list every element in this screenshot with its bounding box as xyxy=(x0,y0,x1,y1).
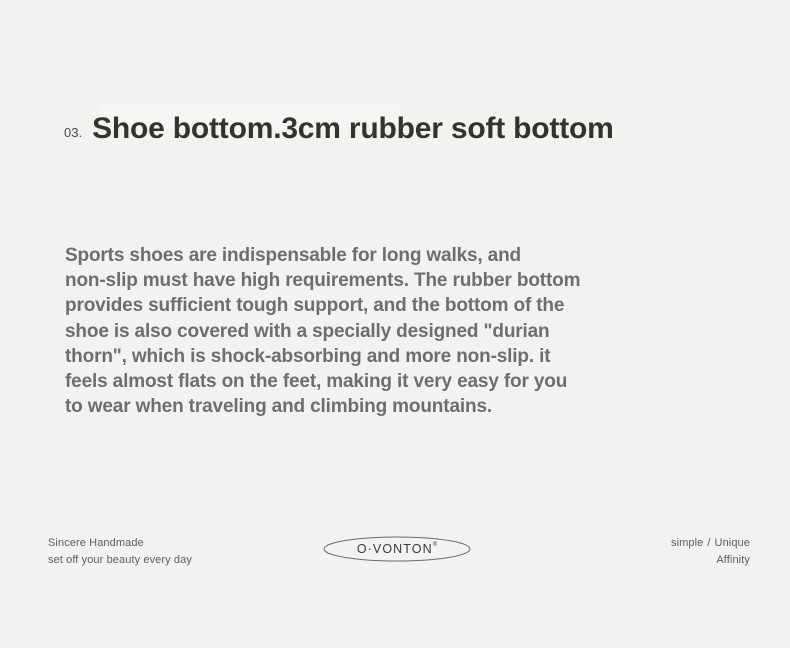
heading-section-number: 03. xyxy=(64,126,82,139)
body-line: to wear when traveling and climbing moun… xyxy=(65,394,725,419)
footer-keyword-separator: / xyxy=(703,537,714,549)
body-line: Sports shoes are indispensable for long … xyxy=(65,243,725,268)
footer-tagline-line-1: Sincere Handmade xyxy=(48,535,192,552)
footer-keyword-unique: Unique xyxy=(715,537,750,549)
body-line: non-slip must have high requirements. Th… xyxy=(65,268,725,293)
footer-keywords-line-1: simple/Unique xyxy=(671,535,750,552)
body-line: thorn", which is shock-absorbing and mor… xyxy=(65,344,725,369)
page-root: 03. Shoe bottom.3cm rubber soft bottom S… xyxy=(0,0,790,648)
footer-keyword-simple: simple xyxy=(671,537,703,549)
registered-trademark-icon: ® xyxy=(433,542,437,548)
footer-tagline-line-2: set off your beauty every day xyxy=(48,552,192,569)
body-line: provides sufficient tough support, and t… xyxy=(65,293,725,318)
logo-name: O·VONTON xyxy=(357,542,433,556)
page-title: Shoe bottom.3cm rubber soft bottom xyxy=(92,112,614,146)
footer-tagline-left: Sincere Handmade set off your beauty eve… xyxy=(48,535,192,569)
footer-tagline-right: simple/Unique Affinity xyxy=(671,535,750,569)
body-line: feels almost flats on the feet, making i… xyxy=(65,369,725,394)
body-paragraph: Sports shoes are indispensable for long … xyxy=(65,243,725,419)
brand-logo: O·VONTON® xyxy=(323,536,471,562)
footer-keyword-affinity: Affinity xyxy=(671,552,750,569)
page-heading: 03. Shoe bottom.3cm rubber soft bottom xyxy=(64,112,614,146)
logo-wordmark: O·VONTON® xyxy=(323,536,471,562)
body-line: shoe is also covered with a specially de… xyxy=(65,319,725,344)
